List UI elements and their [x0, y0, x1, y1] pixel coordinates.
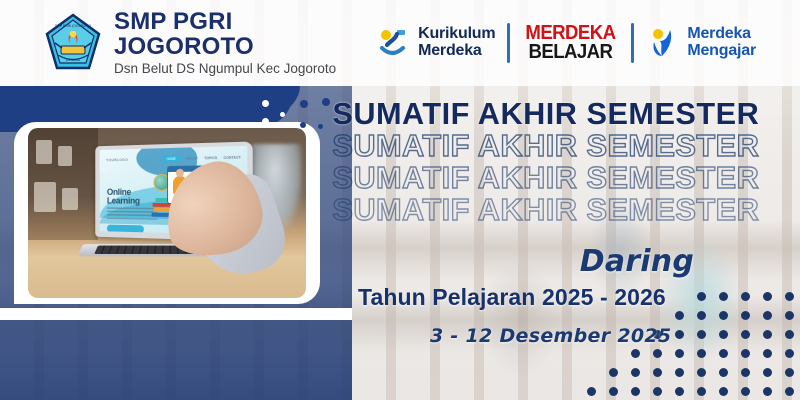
screen-heading: Online Learning	[107, 188, 140, 205]
page-title: SUMATIF AKHIR SEMESTER	[332, 98, 797, 130]
merdeka-belajar-logo: MERDEKA BELAJAR	[522, 24, 619, 62]
school-crest-icon: SMP PGRI JOGOROTO JOMBANG	[44, 13, 102, 73]
mode-label: Daring	[580, 244, 694, 279]
mengajar-line2: Mengajar	[687, 43, 756, 60]
kurikulum-line2: Merdeka	[418, 43, 495, 60]
kurikulum-merdeka-label: Kurikulum Merdeka	[418, 26, 495, 60]
logo-divider-2	[631, 23, 634, 63]
screen-nav-home: HOME	[163, 155, 180, 162]
banner-root: SMP PGRI JOGOROTO JOMBANG SMP PGRI JOGOR…	[0, 0, 800, 400]
program-logos-group: Kurikulum Merdeka MERDEKA BELAJAR Merdek…	[377, 23, 756, 63]
school-address: Dsn Belut DS Ngumpul Kec Jogoroto	[114, 62, 377, 77]
date-range-label: 3 - 12 Desember 2025	[430, 325, 671, 347]
laptop-device: YOURLOGO HOME ABOUT TOPICS CONTACT Onlin…	[80, 144, 255, 269]
merdeka-mengajar-logo: Merdeka Mengajar	[646, 26, 756, 60]
laptop-online-learning-photo: YOURLOGO HOME ABOUT TOPICS CONTACT Onlin…	[28, 128, 306, 298]
kurikulum-merdeka-logo: Kurikulum Merdeka	[377, 26, 495, 60]
logo-divider-1	[507, 23, 510, 63]
screen-nav-about: ABOUT	[186, 156, 198, 160]
page-title-echo-3: SUMATIF AKHIR SEMESTER	[332, 194, 797, 226]
page-title-echo-2: SUMATIF AKHIR SEMESTER	[332, 162, 797, 194]
page-title-echo-1: SUMATIF AKHIR SEMESTER	[332, 130, 797, 162]
merdeka-belajar-line2: BELAJAR	[526, 43, 616, 62]
screen-site-logo: YOURLOGO	[106, 158, 128, 162]
main-content: SUMATIF AKHIR SEMESTER SUMATIF AKHIR SEM…	[330, 86, 800, 400]
screen-nav: HOME ABOUT TOPICS CONTACT	[163, 153, 241, 162]
school-name: SMP PGRI JOGOROTO	[114, 9, 377, 59]
kurikulum-line1: Kurikulum	[418, 26, 495, 43]
academic-year-label: Tahun Pelajaran 2025 - 2026	[358, 284, 666, 311]
left-bottom-white-strip	[0, 308, 296, 320]
screen-nav-topics: TOPICS	[204, 155, 217, 159]
mengajar-line1: Merdeka	[687, 26, 756, 43]
merdeka-mengajar-icon	[646, 26, 680, 60]
kurikulum-merdeka-icon	[377, 26, 411, 60]
school-identity-text: SMP PGRI JOGOROTO Dsn Belut DS Ngumpul K…	[114, 9, 377, 77]
title-stack: SUMATIF AKHIR SEMESTER SUMATIF AKHIR SEM…	[330, 98, 800, 226]
header-left-group: SMP PGRI JOGOROTO JOMBANG SMP PGRI JOGOR…	[44, 9, 377, 77]
svg-text:SMP PGRI JOGOROTO: SMP PGRI JOGOROTO	[55, 24, 91, 28]
merdeka-mengajar-label: Merdeka Mengajar	[687, 26, 756, 60]
screen-paragraph	[107, 207, 157, 220]
screen-heading-line2: Learning	[107, 196, 140, 204]
screen-nav-contact: CONTACT	[223, 155, 240, 160]
header-bar: SMP PGRI JOGOROTO JOMBANG SMP PGRI JOGOR…	[0, 0, 800, 86]
svg-text:JOMBANG: JOMBANG	[65, 58, 81, 62]
screen-cta-button	[107, 225, 144, 234]
